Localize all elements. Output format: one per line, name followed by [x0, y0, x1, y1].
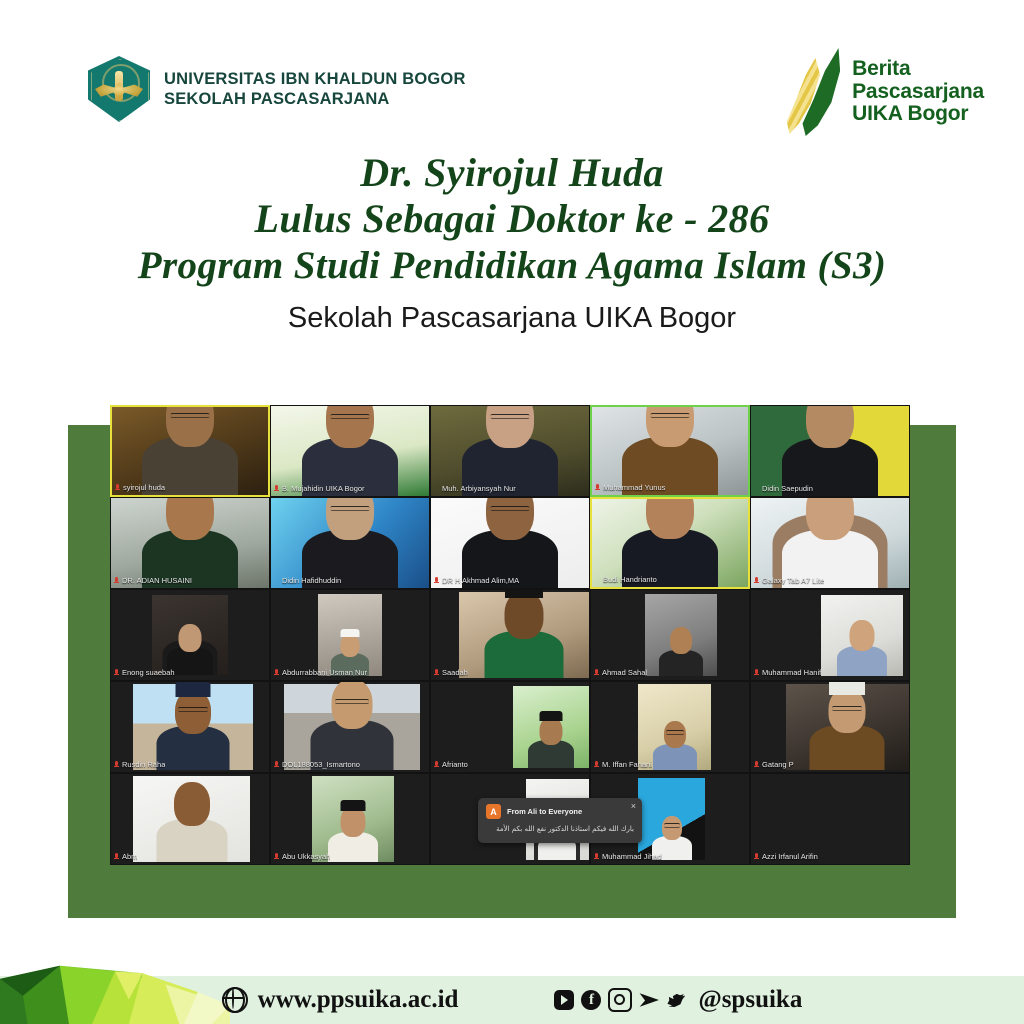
participant-name-text: Afrianto — [442, 760, 468, 769]
participant-tile[interactable]: M. Iffan Fanani — [590, 681, 750, 773]
participant-name-text: DR H Akhmad Alim,MA — [442, 576, 519, 585]
participant-silhouette — [312, 776, 394, 862]
participant-name-label: Afrianto — [434, 760, 468, 769]
participant-silhouette — [431, 406, 589, 496]
participant-name-text: Rusdin Raha — [122, 760, 165, 769]
participant-video — [133, 776, 250, 862]
participant-video — [318, 594, 381, 677]
participant-name-label: Gatang P — [754, 760, 794, 769]
feather-quill-icon — [784, 46, 842, 138]
participant-video — [271, 406, 429, 496]
participant-silhouette — [638, 684, 711, 770]
participant-name-text: Galaxy Tab A7 Lite — [762, 576, 824, 585]
participant-silhouette — [111, 498, 269, 588]
participant-name-label: Muhammad Yunus — [595, 483, 665, 492]
microphone-muted-icon — [434, 761, 439, 769]
participant-name-text: Muhammad Yunus — [603, 483, 665, 492]
website-block: www.ppsuika.ac.id — [222, 986, 459, 1014]
participant-silhouette — [431, 498, 589, 588]
chat-sender-label: From Ali to Everyone — [507, 807, 582, 816]
participant-silhouette — [133, 684, 253, 770]
participant-video — [638, 778, 704, 861]
close-icon[interactable]: × — [631, 802, 636, 811]
participant-tile[interactable]: Gatang P — [750, 681, 910, 773]
participant-silhouette — [513, 686, 589, 769]
microphone-muted-icon — [754, 761, 759, 769]
chat-notification-popup[interactable]: ×AFrom Ali to Everyoneبارك الله فيكم است… — [478, 798, 642, 843]
participant-name-label: Enong suaebah — [114, 668, 175, 677]
page-subtitle: Sekolah Pascasarjana UIKA Bogor — [0, 302, 1024, 335]
participant-name-text: Didin Saepudin — [762, 484, 813, 493]
participant-name-label: DR. ADIAN HUSAINI — [114, 576, 192, 585]
participant-video — [271, 498, 429, 588]
participant-name-label: Abdurrabbani Usman Nur — [274, 668, 367, 677]
participant-tile[interactable]: Abu Ukkasyah — [270, 773, 430, 865]
participant-name-text: Saadah — [442, 668, 468, 677]
participant-tile[interactable]: Muhammad Hanif — [750, 589, 910, 681]
participant-name-label: Didin Saepudin — [754, 484, 813, 493]
microphone-muted-icon — [594, 853, 599, 861]
participant-video — [111, 498, 269, 588]
participant-video — [513, 686, 589, 769]
participant-name-label: DR H Akhmad Alim,MA — [434, 576, 519, 585]
participant-video — [751, 774, 909, 864]
participant-silhouette — [271, 406, 429, 496]
microphone-muted-icon — [434, 577, 439, 585]
participant-name-text: Budi Handrianto — [603, 575, 657, 584]
participant-tile[interactable]: syirojul huda — [110, 405, 270, 497]
participant-tile[interactable]: DR H Akhmad Alim,MA — [430, 497, 590, 589]
participant-tile[interactable]: DOL188053_Ismartono — [270, 681, 430, 773]
microphone-muted-icon — [274, 669, 279, 677]
berita-pascasarjana-logo-block: Berita Pascasarjana UIKA Bogor — [784, 46, 984, 138]
participant-silhouette — [821, 595, 903, 676]
participant-name-text: B. Mujahidin UIKA Bogor — [282, 484, 365, 493]
participant-name-label: Muhammad Hanif — [754, 668, 821, 677]
participant-name-label: Didin Hafidhuddin — [274, 576, 341, 585]
participant-name-text: Didin Hafidhuddin — [282, 576, 341, 585]
participant-name-text: Muh. Arbiyansyah Nur — [442, 484, 516, 493]
brand-line-2: Pascasarjana — [852, 81, 984, 104]
participant-silhouette — [645, 594, 718, 677]
participant-silhouette — [786, 684, 909, 770]
participant-tile[interactable]: Abm — [110, 773, 270, 865]
participant-name-text: Muhammad Hanif — [762, 668, 821, 677]
participant-tile[interactable]: Afrianto — [430, 681, 590, 773]
participant-name-label: Azzi Irfanul Arifin — [754, 852, 818, 861]
participant-silhouette — [592, 407, 748, 495]
participant-silhouette — [751, 498, 909, 588]
faculty-name: SEKOLAH PASCASARJANA — [164, 89, 466, 109]
instagram-icon[interactable] — [608, 988, 632, 1012]
participant-tile[interactable]: Muh. Arbiyansyah Nur — [430, 405, 590, 497]
participant-video — [592, 407, 748, 495]
title-line-2: Lulus Sebagai Doktor ke - 286 — [0, 196, 1024, 242]
participant-name-label: DOL188053_Ismartono — [274, 760, 360, 769]
participant-name-label: Abu Ukkasyah — [274, 852, 330, 861]
participant-tile[interactable]: Abdurrabbani Usman Nur — [270, 589, 430, 681]
youtube-icon[interactable] — [554, 990, 574, 1010]
participant-tile[interactable]: B. Mujahidin UIKA Bogor — [270, 405, 430, 497]
participant-name-text: Abdurrabbani Usman Nur — [282, 668, 367, 677]
microphone-muted-icon — [114, 853, 119, 861]
participant-tile[interactable]: Rusdin Raha — [110, 681, 270, 773]
participant-name-text: M. Iffan Fanani — [602, 760, 652, 769]
participant-silhouette — [152, 595, 228, 674]
participant-silhouette — [592, 499, 748, 587]
participant-tile[interactable]: Saadah — [430, 589, 590, 681]
participant-tile[interactable]: Azzi Irfanul Arifin — [750, 773, 910, 865]
globe-icon — [222, 987, 248, 1013]
participant-video — [645, 594, 718, 677]
microphone-muted-icon — [114, 761, 119, 769]
title-line-1: Dr. Syirojul Huda — [0, 150, 1024, 196]
participant-name-label: syirojul huda — [115, 483, 165, 492]
university-logo-block: UNIVERSITAS IBN KHALDUN BOGOR SEKOLAH PA… — [88, 56, 466, 122]
microphone-muted-icon — [274, 761, 279, 769]
participant-video — [751, 498, 909, 588]
microphone-muted-icon — [594, 669, 599, 677]
microphone-muted-icon — [434, 669, 439, 677]
social-handle[interactable]: @spsuika — [698, 986, 802, 1014]
participant-name-text: Muhammad Jihad — [602, 852, 662, 861]
telegram-icon[interactable] — [639, 990, 659, 1010]
participant-silhouette — [133, 776, 250, 862]
participant-video — [112, 407, 268, 495]
participant-tile[interactable]: Didin Hafidhuddin — [270, 497, 430, 589]
participant-name-text: Ahmad Sahal — [602, 668, 647, 677]
participant-video — [751, 406, 909, 496]
participant-name-text: Enong suaebah — [122, 668, 175, 677]
participant-video — [312, 776, 394, 862]
participant-name-text: Abu Ukkasyah — [282, 852, 330, 861]
social-links-block: @spsuika — [554, 986, 802, 1014]
participant-silhouette — [284, 684, 420, 770]
participant-tile[interactable]: Muhammad Yunus — [590, 405, 750, 497]
participant-video — [786, 684, 909, 770]
facebook-icon[interactable] — [581, 990, 601, 1010]
participant-tile[interactable]: DR. ADIAN HUSAINI — [110, 497, 270, 589]
participant-silhouette — [638, 778, 704, 861]
brand-line-3: UIKA Bogor — [852, 103, 984, 126]
microphone-muted-icon — [115, 484, 120, 492]
microphone-muted-icon — [754, 669, 759, 677]
uika-crest-icon — [88, 56, 150, 122]
participant-name-label: Abm — [114, 852, 137, 861]
participant-name-text: Azzi Irfanul Arifin — [762, 852, 818, 861]
participant-name-text: Gatang P — [762, 760, 794, 769]
participant-name-label: Saadah — [434, 668, 468, 677]
participant-video — [133, 684, 253, 770]
participant-silhouette — [459, 592, 589, 678]
participant-tile[interactable]: Enong suaebah — [110, 589, 270, 681]
participant-tile[interactable]: Didin Saepudin — [750, 405, 910, 497]
participant-silhouette — [112, 407, 268, 495]
microphone-muted-icon — [114, 669, 119, 677]
participant-name-label: B. Mujahidin UIKA Bogor — [274, 484, 365, 493]
participant-name-label: Muhammad Jihad — [594, 852, 662, 861]
microphone-muted-icon — [274, 853, 279, 861]
participant-tile[interactable]: Galaxy Tab A7 Lite — [750, 497, 910, 589]
zoom-meeting-gallery: syirojul hudaB. Mujahidin UIKA BogorMuh.… — [110, 405, 910, 865]
microphone-muted-icon — [754, 577, 759, 585]
participant-name-label: Muh. Arbiyansyah Nur — [434, 484, 516, 493]
microphone-muted-icon — [595, 484, 600, 492]
participant-silhouette — [318, 594, 381, 677]
microphone-muted-icon — [114, 577, 119, 585]
university-name: UNIVERSITAS IBN KHALDUN BOGOR — [164, 69, 466, 89]
avatar: A — [486, 804, 501, 819]
participant-name-label: Budi Handrianto — [595, 575, 657, 584]
participant-name-text: Abm — [122, 852, 137, 861]
participant-name-label: Rusdin Raha — [114, 760, 165, 769]
participant-video — [431, 498, 589, 588]
participant-name-text: DOL188053_Ismartono — [282, 760, 360, 769]
participant-name-label: Ahmad Sahal — [594, 668, 647, 677]
microphone-muted-icon — [754, 853, 759, 861]
participant-video — [459, 592, 589, 678]
participant-video — [821, 595, 903, 676]
microphone-muted-icon — [274, 485, 279, 493]
participant-name-label: M. Iffan Fanani — [594, 760, 652, 769]
brand-line-1: Berita — [852, 58, 984, 81]
website-url[interactable]: www.ppsuika.ac.id — [258, 986, 459, 1014]
page-title: Dr. Syirojul Huda Lulus Sebagai Doktor k… — [0, 150, 1024, 335]
participant-silhouette — [271, 498, 429, 588]
participant-video — [152, 595, 228, 674]
twitter-icon[interactable] — [666, 990, 686, 1010]
microphone-muted-icon — [594, 761, 599, 769]
participant-tile[interactable]: Ahmad Sahal — [590, 589, 750, 681]
participant-video — [431, 406, 589, 496]
participant-video — [592, 499, 748, 587]
participant-name-text: DR. ADIAN HUSAINI — [122, 576, 192, 585]
participant-name-text: syirojul huda — [123, 483, 165, 492]
participant-tile[interactable]: Budi Handrianto — [590, 497, 750, 589]
chat-message-text: بارك الله فيكم استاذنا الدكتور نفع الله … — [486, 824, 634, 835]
participant-silhouette — [751, 406, 909, 496]
participant-video — [284, 684, 420, 770]
participant-video — [638, 684, 711, 770]
title-line-3: Program Studi Pendidikan Agama Islam (S3… — [0, 243, 1024, 288]
participant-name-label: Galaxy Tab A7 Lite — [754, 576, 824, 585]
